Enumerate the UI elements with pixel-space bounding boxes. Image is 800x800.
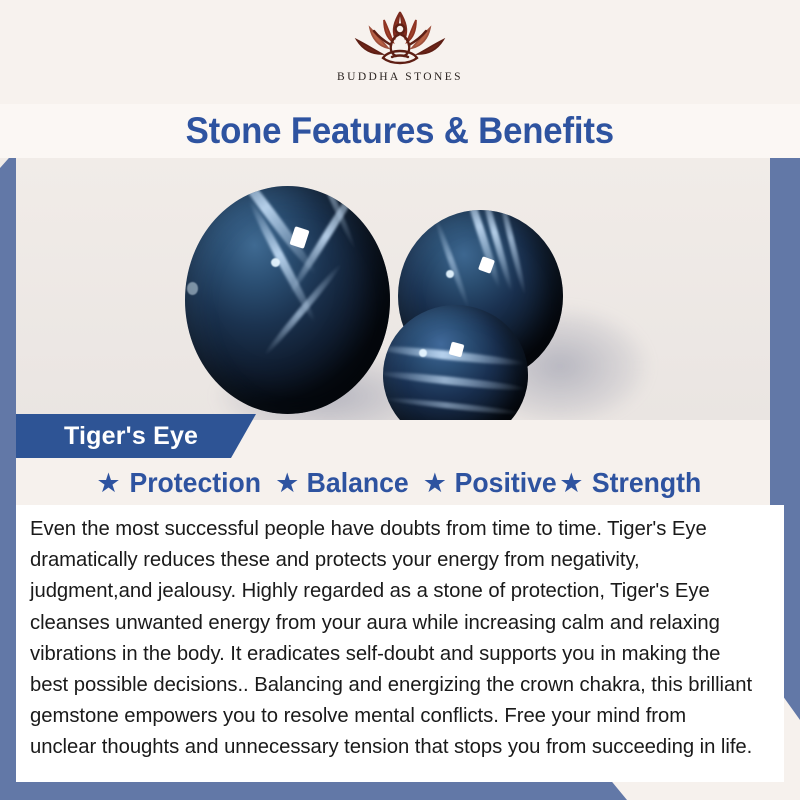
gemstone-large <box>185 186 390 414</box>
benefits-row: ★ Protection ★ Balance ★ Positive ★ Stre… <box>0 462 800 504</box>
logo: BUDDHA STONES <box>337 8 463 83</box>
benefit-item: ★ Strength <box>559 467 703 499</box>
benefit-label: Strength <box>591 467 700 499</box>
title-banner: Stone Features & Benefits <box>0 104 800 158</box>
benefit-item: ★ Positive <box>423 467 560 499</box>
benefit-item: ★ Protection <box>96 467 275 499</box>
benefit-item: ★ Balance <box>275 467 423 499</box>
stone-name-banner: Tiger's Eye <box>16 414 256 458</box>
infographic-page: BUDDHA STONES Stone Features & Benefits … <box>0 0 800 800</box>
brand-header: BUDDHA STONES <box>0 0 800 110</box>
star-icon: ★ <box>559 470 583 497</box>
benefit-label: Balance <box>307 467 409 499</box>
page-title: Stone Features & Benefits <box>186 110 614 152</box>
description-panel: Even the most successful people have dou… <box>16 505 784 782</box>
lotus-meditation-icon <box>340 8 460 70</box>
benefit-label: Positive <box>455 467 557 499</box>
description-text: Even the most successful people have dou… <box>30 513 757 763</box>
star-icon: ★ <box>275 470 299 497</box>
star-icon: ★ <box>96 470 120 497</box>
stone-photo <box>0 158 800 420</box>
star-icon: ★ <box>423 470 447 497</box>
stone-name-label: Tiger's Eye <box>16 422 198 451</box>
brand-name: BUDDHA STONES <box>337 71 463 83</box>
benefit-label: Protection <box>129 467 261 499</box>
